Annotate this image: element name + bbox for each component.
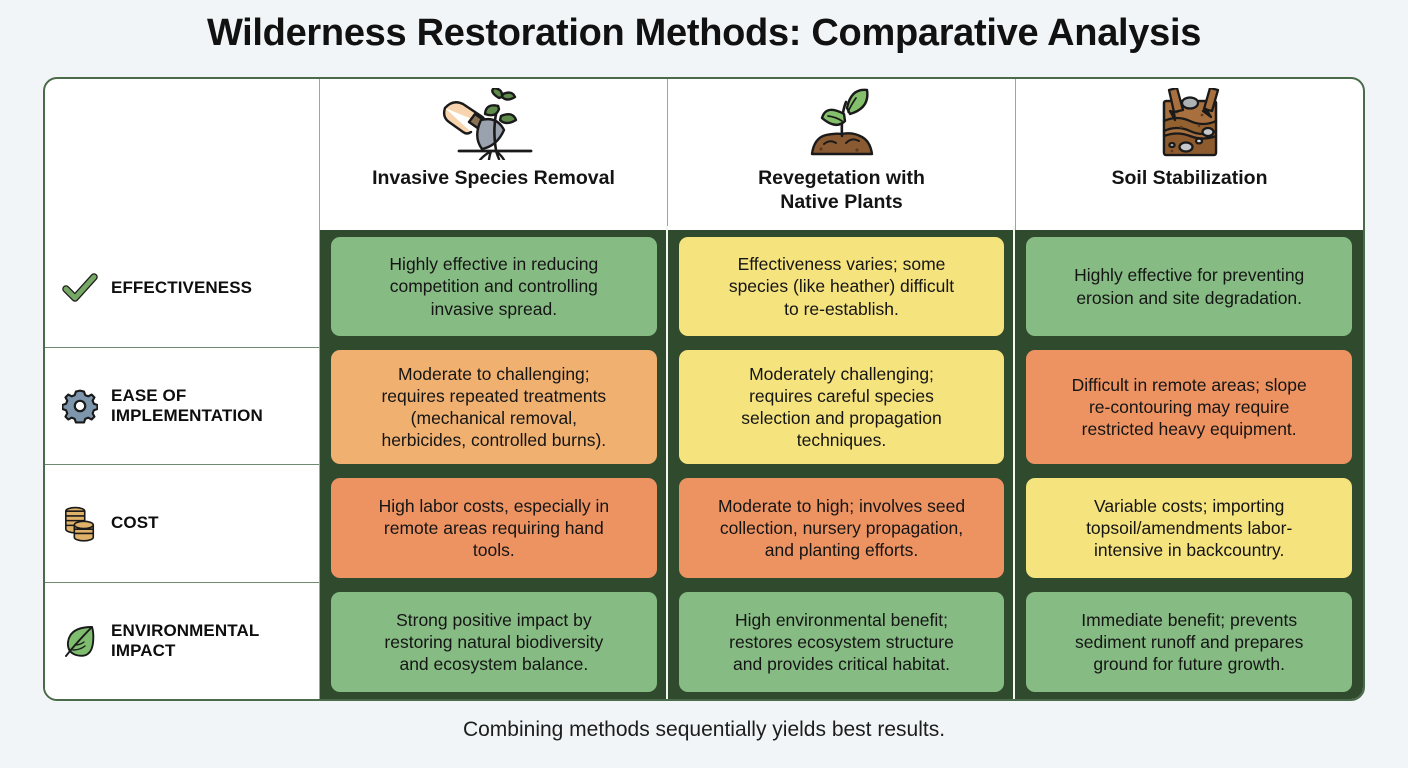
row-label-text: COST: [111, 513, 159, 533]
coins-stack-icon: [62, 504, 98, 542]
cell-wrapper: Strong positive impact by restoring natu…: [320, 585, 668, 699]
row-label-effectiveness[interactable]: EFFECTIVENESS: [45, 230, 319, 348]
footer-caption: Combining methods sequentially yields be…: [0, 718, 1408, 742]
column-header-revegetation-with-native-plants[interactable]: Revegetation with Native Plants: [668, 79, 1016, 230]
rating-matrix: Highly effective in reducing competition…: [320, 230, 1363, 699]
cell-wrapper: Moderate to high; involves seed collecti…: [668, 471, 1016, 585]
infographic-page: Wilderness Restoration Methods: Comparat…: [0, 0, 1408, 768]
cell-wrapper: High environmental benefit; restores eco…: [668, 585, 1016, 699]
soil-layers-stakes-icon: [1142, 87, 1238, 161]
cell-wrapper: Highly effective for preventing erosion …: [1015, 230, 1363, 343]
row-label-ease-of-implementation[interactable]: EASE OF IMPLEMENTATION: [45, 348, 319, 466]
table-row-cost: High labor costs, especially in remote a…: [320, 471, 1363, 585]
rating-cell[interactable]: Strong positive impact by restoring natu…: [331, 592, 657, 692]
table-row-effectiveness: Highly effective in reducing competition…: [320, 230, 1363, 343]
leaf-icon: [62, 623, 98, 659]
rating-cell[interactable]: Moderately challenging; requires careful…: [679, 350, 1005, 464]
cell-wrapper: Moderate to challenging; requires repeat…: [320, 343, 668, 471]
column-header-soil-stabilization[interactable]: Soil Stabilization: [1016, 79, 1363, 230]
cell-wrapper: Moderately challenging; requires careful…: [668, 343, 1016, 471]
cell-wrapper: Highly effective in reducing competition…: [320, 230, 668, 343]
cell-wrapper: Effectiveness varies; some species (like…: [668, 230, 1016, 343]
column-header-label: Invasive Species Removal: [372, 167, 615, 191]
row-label-text: ENVIRONMENTAL IMPACT: [111, 621, 259, 661]
table-row-ease-of-implementation: Moderate to challenging; requires repeat…: [320, 343, 1363, 471]
table-row-environmental-impact: Strong positive impact by restoring natu…: [320, 585, 1363, 699]
cell-wrapper: Difficult in remote areas; slope re-cont…: [1015, 343, 1363, 471]
rating-cell[interactable]: Moderate to high; involves seed collecti…: [679, 478, 1005, 578]
cell-wrapper: Variable costs; importing topsoil/amendm…: [1015, 471, 1363, 585]
rating-cell[interactable]: Variable costs; importing topsoil/amendm…: [1026, 478, 1352, 578]
gear-icon: [62, 388, 98, 424]
rating-cell[interactable]: Highly effective for preventing erosion …: [1026, 237, 1352, 336]
page-title: Wilderness Restoration Methods: Comparat…: [0, 12, 1408, 55]
rating-cell[interactable]: Effectiveness varies; some species (like…: [679, 237, 1005, 336]
row-label-cost[interactable]: COST: [45, 465, 319, 583]
row-label-text: EFFECTIVENESS: [111, 278, 252, 298]
column-header-label: Revegetation with Native Plants: [758, 167, 925, 215]
rating-cell[interactable]: Difficult in remote areas; slope re-cont…: [1026, 350, 1352, 464]
rating-cell[interactable]: High labor costs, especially in remote a…: [331, 478, 657, 578]
row-label-text: EASE OF IMPLEMENTATION: [111, 386, 263, 426]
comparison-table: Invasive Species Removal: [43, 77, 1365, 701]
column-header-invasive-species-removal[interactable]: Invasive Species Removal: [320, 79, 668, 230]
table-body: EFFECTIVENESS EASE OF IMPLEMENTATION: [45, 230, 1363, 699]
rating-cell[interactable]: Highly effective in reducing competition…: [331, 237, 657, 336]
rating-cell[interactable]: Moderate to challenging; requires repeat…: [331, 350, 657, 464]
column-header-label: Soil Stabilization: [1111, 167, 1267, 191]
rating-cell[interactable]: High environmental benefit; restores eco…: [679, 592, 1005, 692]
cell-wrapper: High labor costs, especially in remote a…: [320, 471, 668, 585]
hand-trowel-weed-icon: [439, 87, 549, 161]
cell-wrapper: Immediate benefit; prevents sediment run…: [1015, 585, 1363, 699]
rating-cell[interactable]: Immediate benefit; prevents sediment run…: [1026, 592, 1352, 692]
row-label-column: EFFECTIVENESS EASE OF IMPLEMENTATION: [45, 230, 320, 699]
row-label-environmental-impact[interactable]: ENVIRONMENTAL IMPACT: [45, 583, 319, 700]
table-header-row: Invasive Species Removal: [45, 79, 1363, 230]
header-corner-cell: [45, 79, 320, 230]
seedling-in-soil-icon: [794, 87, 890, 161]
check-mark-icon: [62, 273, 98, 303]
